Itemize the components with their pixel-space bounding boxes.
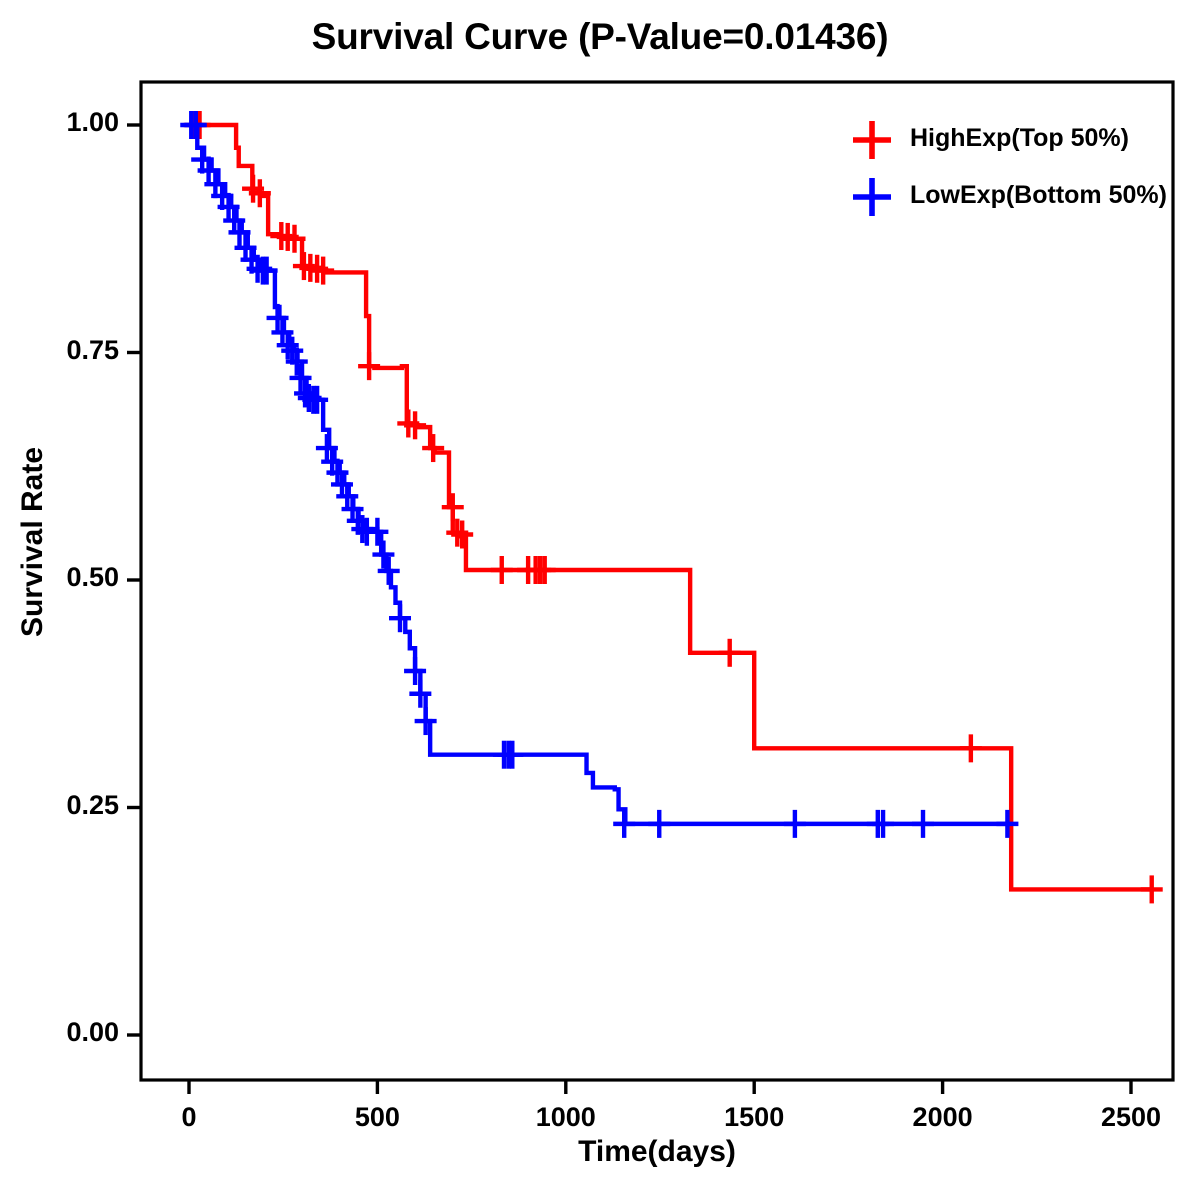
censor-plus-marker [960, 734, 982, 762]
censor-plus-marker [719, 639, 741, 667]
y-tick-label: 0.00 [9, 1017, 119, 1048]
x-tick-label: 1000 [506, 1102, 626, 1133]
y-tick-label: 0.50 [9, 562, 119, 593]
censor-plus-marker [442, 493, 464, 521]
legend-plus-icon[interactable] [853, 178, 891, 216]
series-lines [180, 111, 1162, 903]
y-axis-title: Survival Rate [16, 442, 50, 642]
censor-plus-marker [404, 657, 426, 685]
censor-plus-marker [996, 810, 1018, 838]
censor-plus-marker [912, 810, 934, 838]
legend-plus-icon[interactable] [853, 121, 891, 159]
censor-plus-marker [491, 556, 513, 584]
x-tick-label: 0 [129, 1102, 249, 1133]
x-tick-label: 1500 [694, 1102, 814, 1133]
censor-plus-marker [415, 707, 437, 735]
y-tick-label: 1.00 [9, 107, 119, 138]
legend-entry-label[interactable]: LowExp(Bottom 50%) [910, 181, 1167, 210]
x-tick-label: 2000 [883, 1102, 1003, 1133]
censor-plus-marker [422, 434, 444, 462]
censor-plus-marker [409, 680, 431, 708]
censor-plus-marker [378, 557, 400, 585]
censor-plus-marker [389, 604, 411, 632]
legend-markers [853, 121, 891, 216]
censor-plus-marker [784, 810, 806, 838]
censor-plus-marker [185, 111, 207, 139]
x-axis-title: Time(days) [141, 1135, 1173, 1169]
censor-plus-marker [613, 810, 635, 838]
legend-entry-label[interactable]: HighExp(Top 50%) [910, 124, 1129, 153]
y-tick-label: 0.75 [9, 335, 119, 366]
x-tick-label: 500 [317, 1102, 437, 1133]
censor-plus-marker [358, 352, 380, 380]
survival-curve-figure: Survival Curve (P-Value=0.01436) Surviva… [0, 0, 1200, 1200]
x-tick-label: 2500 [1071, 1102, 1191, 1133]
plot-canvas [0, 0, 1200, 1200]
censor-plus-marker [872, 810, 894, 838]
survival-step-line-low-exp [189, 125, 1010, 824]
censor-plus-marker [1141, 875, 1163, 903]
y-tick-label: 0.25 [9, 790, 119, 821]
survival-step-line-high-exp [189, 125, 1154, 889]
censor-plus-marker [648, 810, 670, 838]
